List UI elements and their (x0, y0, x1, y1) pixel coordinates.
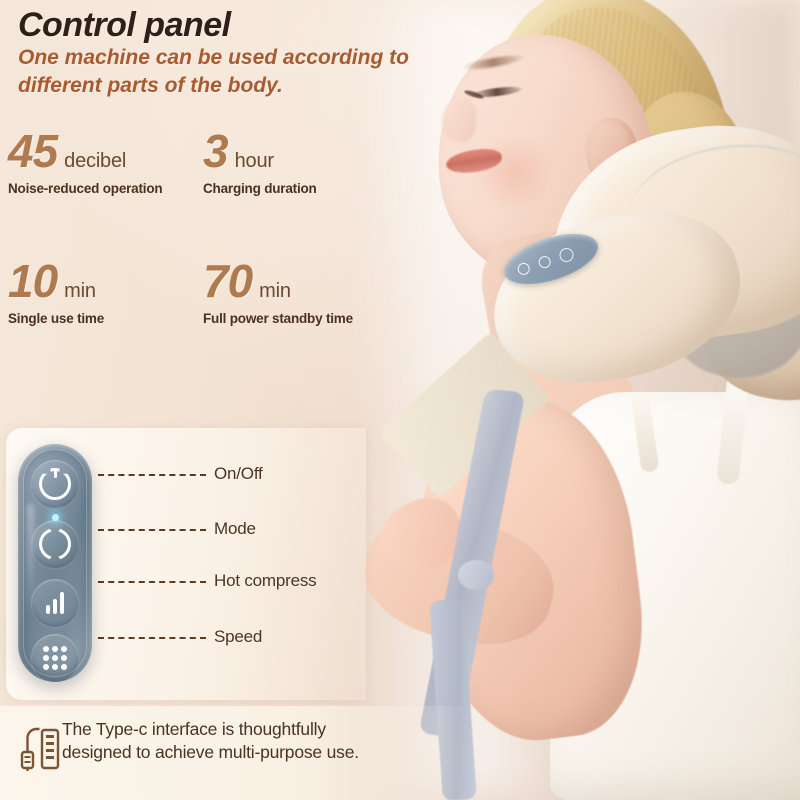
spec-value: 3 (203, 128, 228, 174)
spec-row-2: 10 min Single use time 70 min Full power… (8, 258, 378, 326)
button-speed[interactable] (31, 634, 79, 682)
spec-unit: decibel (64, 150, 126, 173)
spec-value: 10 (8, 258, 57, 304)
pad-mode-icon (537, 255, 552, 270)
grey-ribbon-knot (458, 560, 494, 590)
button-on-off[interactable] (31, 460, 79, 508)
leader-line-mode (98, 529, 206, 531)
leader-line-hot-compress (98, 581, 206, 583)
page-title: Control panel (18, 6, 231, 45)
controller-device (18, 444, 92, 682)
spec-item-decibel: 45 decibel Noise-reduced operation (8, 128, 203, 196)
spec-row-gap (8, 196, 378, 258)
leader-line-speed (98, 637, 206, 639)
spec-unit: min (259, 280, 291, 303)
spec-unit: min (64, 280, 96, 303)
leader-line-on-off (98, 474, 206, 476)
label-speed: Speed (214, 627, 262, 647)
model-nose (442, 98, 476, 142)
footer-caption: The Type-c interface is thoughtfully des… (62, 718, 362, 765)
spec-caption: Charging duration (203, 181, 378, 196)
model-photo (400, 0, 800, 800)
spec-value: 70 (203, 258, 252, 304)
mode-icon (39, 528, 71, 560)
product-infographic: Control panel One machine can be used ac… (0, 0, 800, 800)
label-mode: Mode (214, 519, 256, 539)
spec-item-single-use: 10 min Single use time (8, 258, 203, 326)
button-hot-compress[interactable] (31, 579, 79, 627)
spec-caption: Full power standby time (203, 311, 378, 326)
pad-power-icon (516, 261, 531, 276)
label-hot-compress: Hot compress (214, 571, 316, 591)
label-on-off: On/Off (214, 464, 263, 484)
power-icon (39, 468, 71, 500)
usb-type-c-cable-icon (18, 722, 62, 776)
button-mode[interactable] (31, 520, 79, 568)
spec-item-standby: 70 min Full power standby time (203, 258, 378, 326)
page-subtitle: One machine can be used according to dif… (18, 44, 448, 100)
spec-row-1: 45 decibel Noise-reduced operation 3 hou… (8, 128, 378, 196)
pad-speed-icon (558, 246, 576, 264)
spec-unit: hour (235, 150, 274, 173)
spec-value: 45 (8, 128, 57, 174)
heat-bars-icon (46, 592, 64, 614)
spec-grid: 45 decibel Noise-reduced operation 3 hou… (8, 128, 378, 326)
spec-caption: Single use time (8, 311, 203, 326)
spec-item-charging: 3 hour Charging duration (203, 128, 378, 196)
spec-caption: Noise-reduced operation (8, 181, 203, 196)
speed-dots-icon (43, 646, 67, 670)
